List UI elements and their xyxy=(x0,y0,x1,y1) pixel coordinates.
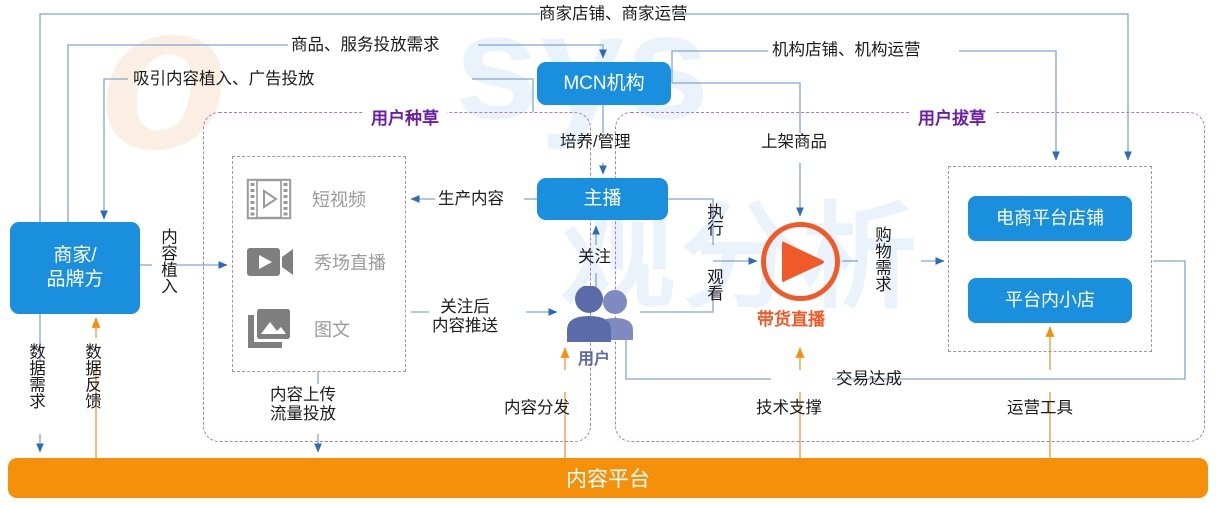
node-mcn-label: MCN机构 xyxy=(563,72,644,96)
edge-label-mcn-shop-ops: 机构店铺、机构运营 xyxy=(772,41,921,60)
live-commerce-label: 带货直播 xyxy=(757,305,825,330)
edge-label-watch: 观看 xyxy=(703,268,722,301)
edge-label-follow-push-line1: 关注后 xyxy=(432,298,498,317)
content-type-graphic-text: 图文 xyxy=(246,307,350,351)
image-stack-icon xyxy=(246,307,294,351)
node-merchant[interactable]: 商家/ 品牌方 xyxy=(10,222,140,314)
node-merchant-line2: 品牌方 xyxy=(46,268,103,292)
edge-label-list-goods: 上架商品 xyxy=(761,133,827,152)
edge-label-content-upload-line1: 内容上传 xyxy=(270,386,336,405)
node-content-platform-label: 内容平台 xyxy=(566,463,650,493)
content-type-show-live: 秀场直播 xyxy=(246,243,386,281)
video-camera-icon xyxy=(246,243,294,281)
content-type-short-video: 短视频 xyxy=(246,177,366,221)
node-anchor-label: 主播 xyxy=(583,187,621,211)
edge-label-content-upload: 内容上传 流量投放 xyxy=(270,386,336,425)
node-ecom-shop-label: 电商平台店铺 xyxy=(996,207,1104,230)
edge-label-data-feedback: 数据反馈 xyxy=(81,343,100,409)
edge-label-execute: 执行 xyxy=(703,203,722,236)
edge-label-content-upload-line2: 流量投放 xyxy=(270,405,336,424)
edge-label-shopping-demand: 购物需求 xyxy=(871,226,890,292)
zone-seeding-title: 用户种草 xyxy=(363,104,447,129)
content-type-label: 图文 xyxy=(314,316,350,342)
node-user-label: 用户 xyxy=(578,345,610,369)
content-type-label: 秀场直播 xyxy=(314,249,386,275)
film-strip-icon xyxy=(246,177,292,221)
node-ecom-shop[interactable]: 电商平台店铺 xyxy=(968,196,1132,241)
edge-label-data-demand: 数据需求 xyxy=(25,343,44,409)
edge-label-content-distribution: 内容分发 xyxy=(504,399,570,418)
edge-label-attract-placement: 吸引内容植入、广告投放 xyxy=(133,70,315,89)
edge-label-goods-service-demand: 商品、服务投放需求 xyxy=(291,36,440,55)
node-content-platform[interactable]: 内容平台 xyxy=(8,458,1208,498)
edge-label-content-implant: 内容植入 xyxy=(157,228,176,294)
node-anchor[interactable]: 主播 xyxy=(537,178,668,220)
edge-label-follow-push: 关注后 内容推送 xyxy=(432,298,498,337)
edge-label-trade-done: 交易达成 xyxy=(836,370,902,389)
diagram-canvas: o sys 观分析 xyxy=(0,0,1219,505)
edge-label-merchant-shop-ops: 商家店铺、商家运营 xyxy=(539,5,688,24)
edge-label-produce-content: 生产内容 xyxy=(438,190,504,209)
node-platform-shop[interactable]: 平台内小店 xyxy=(968,278,1132,323)
users-icon xyxy=(561,286,639,344)
edge-label-follow: 关注 xyxy=(578,248,611,267)
edge-label-operation-tools: 运营工具 xyxy=(1007,399,1073,418)
node-mcn[interactable]: MCN机构 xyxy=(537,62,671,105)
shops-box xyxy=(948,166,1152,352)
edge-label-follow-push-line2: 内容推送 xyxy=(432,317,498,336)
node-merchant-line1: 商家/ xyxy=(53,244,96,268)
edge-label-cultivate-manage: 培养/管理 xyxy=(560,133,631,152)
node-platform-shop-label: 平台内小店 xyxy=(1005,289,1095,312)
edge-label-tech-support: 技术支撑 xyxy=(756,399,822,418)
play-triangle-icon xyxy=(776,236,828,288)
zone-conversion-title: 用户拔草 xyxy=(910,104,994,129)
content-type-label: 短视频 xyxy=(312,186,366,212)
